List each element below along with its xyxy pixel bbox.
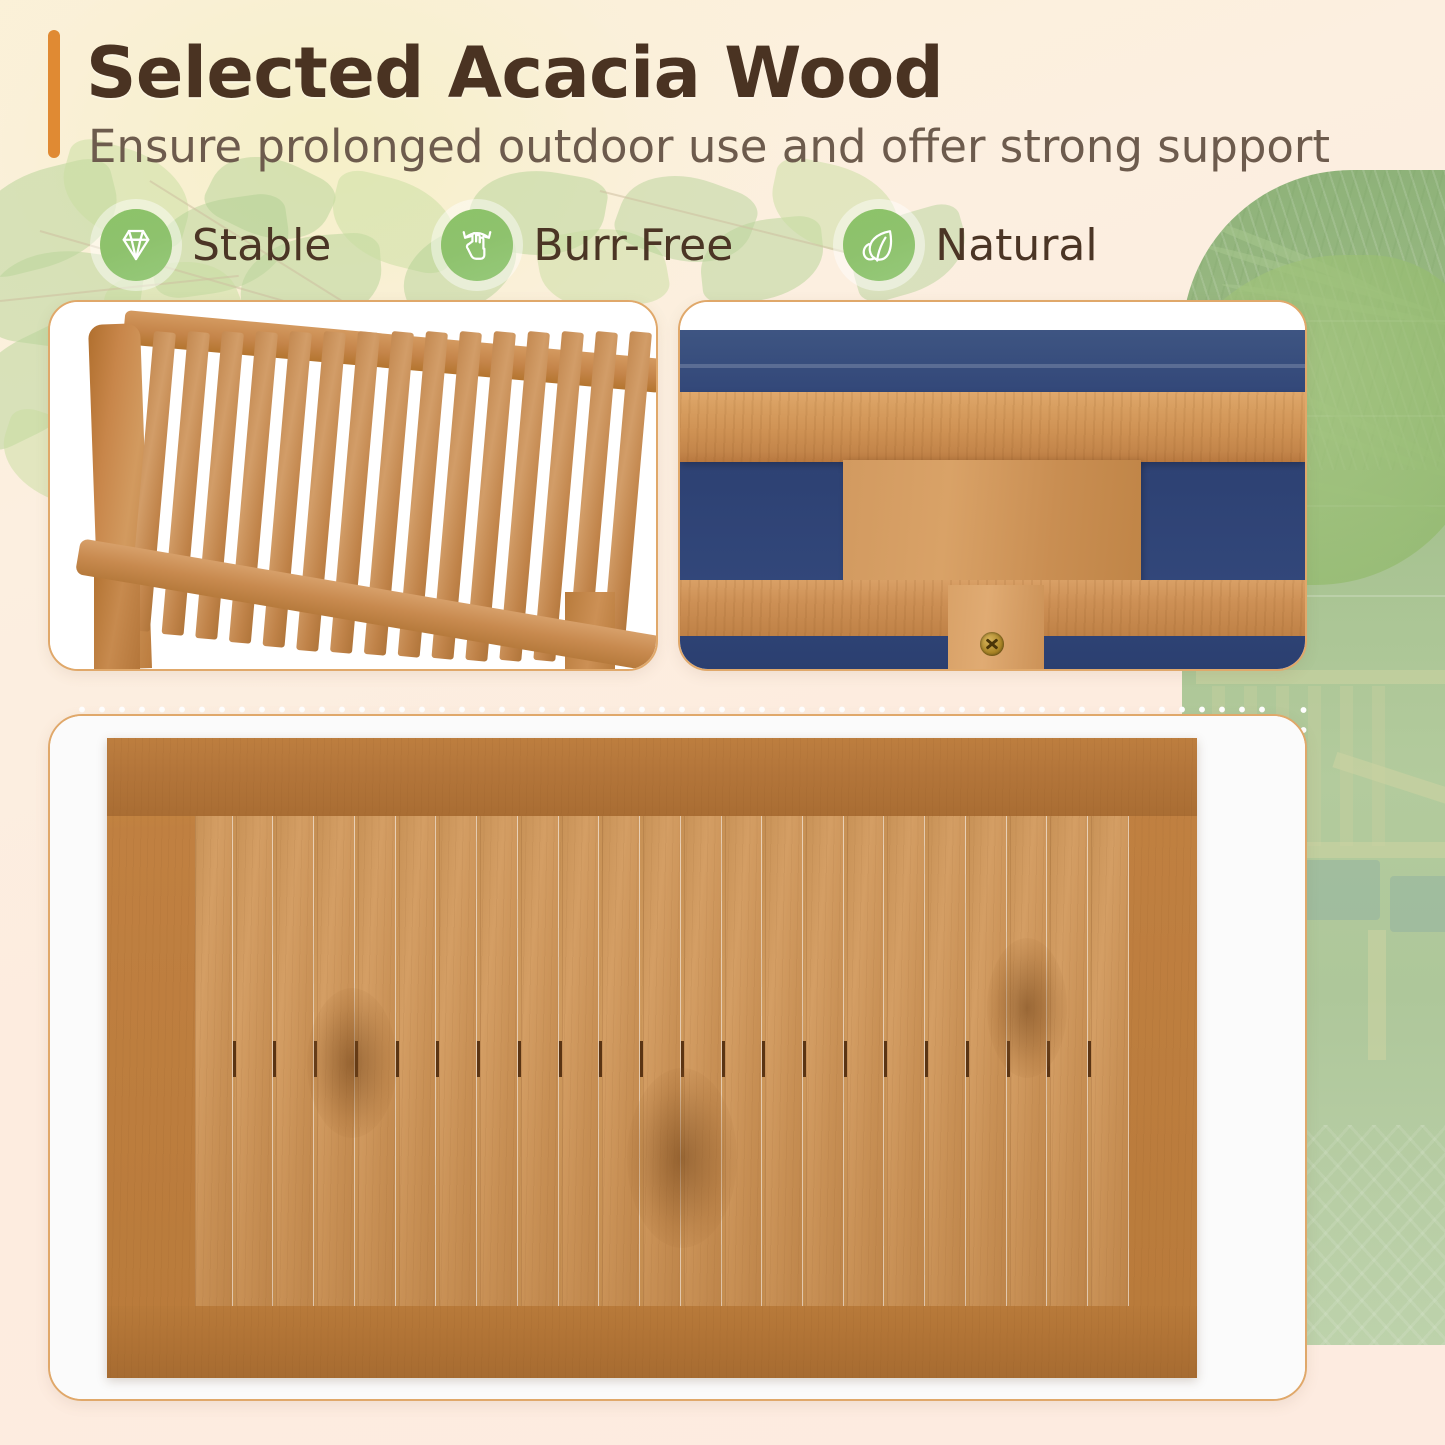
page-subtitle: Ensure prolonged outdoor use and offer s…: [88, 120, 1330, 173]
tabletop-slat: [928, 816, 966, 1306]
tabletop-slat: [1091, 816, 1129, 1306]
title-accent-bar: [48, 30, 60, 158]
tabletop-slat: [1050, 816, 1088, 1306]
tabletop-slat: [439, 816, 477, 1306]
tabletop-slat: [236, 816, 274, 1306]
bench-backrest-photo: [50, 302, 656, 669]
tabletop-slat: [480, 816, 518, 1306]
photo-card-slatted-tabletop[interactable]: [48, 714, 1307, 1401]
two-leaves-icon: [843, 209, 915, 281]
tabletop-slat: [847, 816, 885, 1306]
seat-frame-detail-photo: [680, 302, 1305, 669]
brass-screw-detail: [980, 632, 1004, 656]
feature-badge-burr-free: Burr-Free: [441, 209, 733, 281]
tabletop-slat: [602, 816, 640, 1306]
tabletop-slat: [765, 816, 803, 1306]
tabletop-slat: [195, 816, 233, 1306]
slatted-tabletop-photo: [50, 716, 1305, 1399]
tabletop-slat: [725, 816, 763, 1306]
dotted-divider-horizontal: [72, 706, 1272, 713]
photo-card-bench-backrest[interactable]: [48, 300, 658, 671]
diamond-icon: [100, 209, 172, 281]
tabletop-slat: [399, 816, 437, 1306]
promo-banner: Selected Acacia Wood Ensure prolonged ou…: [0, 0, 1445, 1445]
feature-badge-label: Burr-Free: [533, 220, 733, 271]
feature-badge-label: Natural: [935, 220, 1097, 271]
feature-badge-stable: Stable: [100, 209, 331, 281]
feature-badge-natural: Natural: [843, 209, 1097, 281]
tabletop-slat: [887, 816, 925, 1306]
feature-badge-list: Stable Burr-Free: [100, 202, 1098, 288]
swipe-hand-icon: [441, 209, 513, 281]
tabletop-slat: [562, 816, 600, 1306]
photo-card-seat-frame-detail[interactable]: [678, 300, 1307, 671]
tabletop-slat: [806, 816, 844, 1306]
feature-badge-label: Stable: [192, 220, 331, 271]
tabletop-slat: [521, 816, 559, 1306]
page-title: Selected Acacia Wood: [86, 32, 943, 114]
